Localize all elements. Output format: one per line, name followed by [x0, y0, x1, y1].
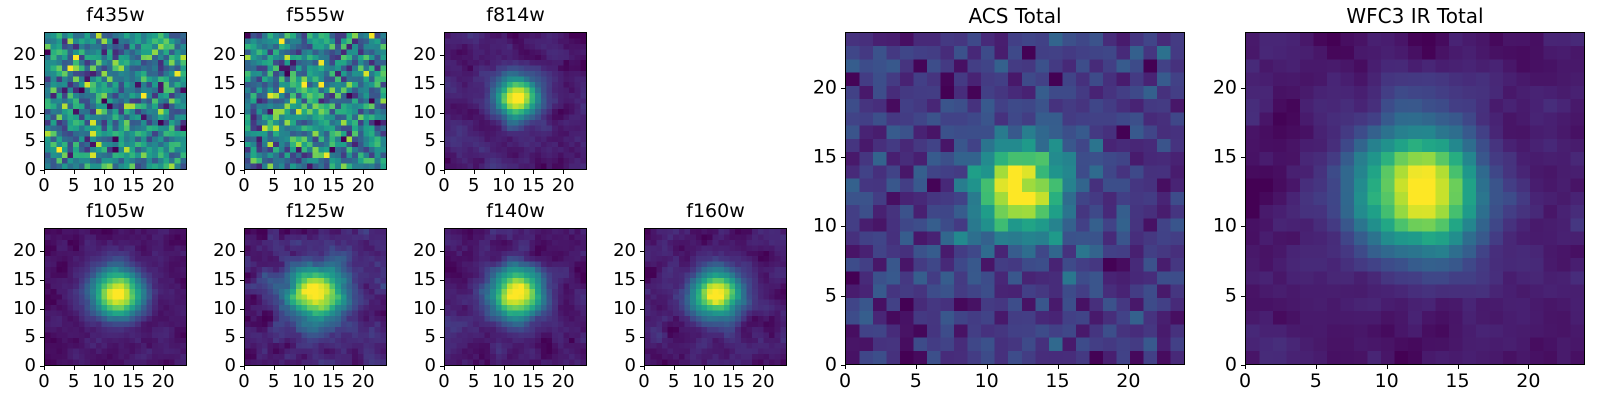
x-tick-label: 20 — [152, 373, 175, 391]
x-tick-mark — [1128, 365, 1129, 369]
y-tick-label: 15 — [198, 271, 236, 289]
x-tick-label: 10 — [92, 177, 115, 195]
y-tick-label: 20 — [398, 46, 436, 64]
y-tick-mark — [240, 84, 244, 85]
x-tick-label: 10 — [1375, 372, 1399, 391]
x-tick-label: 5 — [68, 373, 79, 391]
x-tick-label: 5 — [268, 373, 279, 391]
plot-area-f125w — [244, 228, 387, 366]
y-tick-label: 15 — [398, 271, 436, 289]
x-tick-label: 5 — [910, 372, 922, 391]
x-tick-label: 15 — [322, 177, 345, 195]
y-tick-mark — [640, 280, 644, 281]
y-tick-label: 20 — [198, 46, 236, 64]
x-tick-mark — [304, 366, 305, 370]
x-tick-label: 20 — [352, 373, 375, 391]
x-tick-mark — [1387, 365, 1388, 369]
y-tick-label: 20 — [598, 242, 636, 260]
x-tick-label: 0 — [438, 177, 449, 195]
x-tick-mark — [733, 366, 734, 370]
y-tick-label: 15 — [0, 271, 36, 289]
x-tick-mark — [74, 170, 75, 174]
plot-area-f555w — [244, 32, 387, 170]
x-tick-mark — [533, 366, 534, 370]
x-tick-label: 5 — [268, 177, 279, 195]
x-tick-mark — [563, 170, 564, 174]
y-tick-label: 10 — [1199, 217, 1237, 236]
y-tick-mark — [40, 55, 44, 56]
panel-title-f125w: f125w — [244, 202, 387, 221]
y-tick-label: 0 — [198, 161, 236, 179]
y-tick-mark — [640, 251, 644, 252]
heatmap-f160w — [645, 229, 786, 365]
y-tick-mark — [440, 251, 444, 252]
x-tick-label: 5 — [68, 177, 79, 195]
y-tick-mark — [440, 170, 444, 171]
x-tick-label: 0 — [1239, 372, 1251, 391]
y-tick-mark — [841, 365, 845, 366]
panel-title-f435w: f435w — [44, 6, 187, 25]
y-tick-label: 15 — [1199, 147, 1237, 166]
panel-title-acs_total: ACS Total — [845, 6, 1185, 26]
x-tick-mark — [1528, 365, 1529, 369]
y-tick-mark — [240, 55, 244, 56]
y-tick-mark — [40, 170, 44, 171]
y-tick-label: 5 — [398, 328, 436, 346]
x-tick-label: 10 — [292, 373, 315, 391]
y-tick-label: 20 — [0, 242, 36, 260]
x-tick-mark — [274, 366, 275, 370]
y-tick-mark — [640, 337, 644, 338]
y-tick-mark — [240, 113, 244, 114]
y-tick-mark — [440, 141, 444, 142]
y-tick-mark — [40, 141, 44, 142]
panel-title-f105w: f105w — [44, 202, 187, 221]
x-tick-label: 0 — [238, 177, 249, 195]
panel-f814w: f814w0510152005101520 — [398, 2, 595, 204]
y-tick-mark — [1241, 365, 1245, 366]
y-tick-label: 15 — [398, 75, 436, 93]
x-tick-mark — [1245, 365, 1246, 369]
x-tick-label: 20 — [552, 373, 575, 391]
y-tick-mark — [40, 280, 44, 281]
y-tick-label: 5 — [0, 328, 36, 346]
x-tick-mark — [244, 366, 245, 370]
y-tick-mark — [440, 280, 444, 281]
y-tick-mark — [40, 113, 44, 114]
y-tick-label: 5 — [198, 132, 236, 150]
x-tick-label: 15 — [722, 373, 745, 391]
y-tick-mark — [240, 251, 244, 252]
panel-f140w: f140w0510152005101520 — [398, 198, 595, 400]
x-tick-mark — [363, 366, 364, 370]
x-tick-mark — [474, 170, 475, 174]
y-tick-label: 20 — [398, 242, 436, 260]
y-tick-label: 0 — [598, 357, 636, 375]
x-tick-label: 15 — [1045, 372, 1069, 391]
x-tick-mark — [244, 170, 245, 174]
x-tick-label: 5 — [668, 373, 679, 391]
y-tick-mark — [1241, 296, 1245, 297]
x-tick-label: 20 — [352, 177, 375, 195]
panel-title-f814w: f814w — [444, 6, 587, 25]
x-tick-mark — [44, 366, 45, 370]
x-tick-mark — [533, 170, 534, 174]
y-tick-label: 10 — [198, 104, 236, 122]
plot-area-f435w — [44, 32, 187, 170]
panel-f555w: f555w0510152005101520 — [198, 2, 395, 204]
x-tick-label: 0 — [38, 373, 49, 391]
x-tick-label: 20 — [152, 177, 175, 195]
y-tick-label: 5 — [598, 328, 636, 346]
y-tick-label: 20 — [198, 242, 236, 260]
y-tick-label: 15 — [0, 75, 36, 93]
x-tick-label: 0 — [438, 373, 449, 391]
plot-area-wfc3_ir_total — [1245, 32, 1585, 365]
x-tick-label: 0 — [839, 372, 851, 391]
panel-title-wfc3_ir_total: WFC3 IR Total — [1245, 6, 1585, 26]
x-tick-label: 10 — [692, 373, 715, 391]
x-tick-mark — [444, 170, 445, 174]
x-tick-mark — [133, 366, 134, 370]
x-tick-mark — [133, 170, 134, 174]
plot-area-f814w — [444, 32, 587, 170]
plot-area-f105w — [44, 228, 187, 366]
panel-f435w: f435w0510152005101520 — [0, 2, 195, 204]
x-tick-mark — [333, 170, 334, 174]
y-tick-mark — [640, 309, 644, 310]
heatmap-f555w — [245, 33, 386, 169]
x-tick-mark — [674, 366, 675, 370]
y-tick-mark — [841, 157, 845, 158]
x-tick-label: 20 — [1516, 372, 1540, 391]
y-tick-mark — [440, 309, 444, 310]
y-tick-label: 10 — [198, 300, 236, 318]
x-tick-mark — [845, 365, 846, 369]
x-tick-label: 10 — [975, 372, 999, 391]
x-tick-mark — [1458, 365, 1459, 369]
y-tick-label: 0 — [1199, 356, 1237, 375]
panel-title-f555w: f555w — [244, 6, 387, 25]
x-tick-label: 20 — [552, 177, 575, 195]
y-tick-label: 10 — [799, 217, 837, 236]
y-tick-mark — [841, 88, 845, 89]
y-tick-label: 15 — [198, 75, 236, 93]
y-tick-mark — [440, 366, 444, 367]
heatmap-f125w — [245, 229, 386, 365]
y-tick-label: 10 — [398, 300, 436, 318]
panel-wfc3_ir_total: WFC3 IR Total0510152005101520 — [1199, 2, 1593, 399]
x-tick-mark — [1316, 365, 1317, 369]
y-tick-label: 5 — [0, 132, 36, 150]
y-tick-label: 10 — [398, 104, 436, 122]
y-tick-label: 10 — [598, 300, 636, 318]
x-tick-label: 0 — [638, 373, 649, 391]
x-tick-mark — [504, 366, 505, 370]
x-tick-label: 15 — [322, 373, 345, 391]
x-tick-mark — [163, 170, 164, 174]
y-tick-label: 5 — [1199, 286, 1237, 305]
panel-title-f160w: f160w — [644, 202, 787, 221]
x-tick-mark — [44, 170, 45, 174]
x-tick-label: 10 — [492, 177, 515, 195]
y-tick-mark — [40, 366, 44, 367]
y-tick-label: 5 — [799, 286, 837, 305]
x-tick-mark — [644, 366, 645, 370]
y-tick-label: 15 — [598, 271, 636, 289]
x-tick-label: 5 — [1310, 372, 1322, 391]
x-tick-mark — [163, 366, 164, 370]
x-tick-mark — [704, 366, 705, 370]
y-tick-label: 20 — [799, 78, 837, 97]
x-tick-mark — [763, 366, 764, 370]
x-tick-label: 0 — [238, 373, 249, 391]
x-tick-label: 10 — [292, 177, 315, 195]
y-tick-label: 0 — [0, 357, 36, 375]
y-tick-mark — [440, 113, 444, 114]
y-tick-mark — [1241, 157, 1245, 158]
heatmap-f105w — [45, 229, 186, 365]
panel-f125w: f125w0510152005101520 — [198, 198, 395, 400]
x-tick-mark — [304, 170, 305, 174]
y-tick-mark — [440, 55, 444, 56]
x-tick-mark — [474, 366, 475, 370]
x-tick-label: 15 — [522, 177, 545, 195]
heatmap-f814w — [445, 33, 586, 169]
y-tick-label: 20 — [1199, 78, 1237, 97]
y-tick-label: 0 — [198, 357, 236, 375]
x-tick-mark — [1058, 365, 1059, 369]
y-tick-mark — [240, 309, 244, 310]
panel-f160w: f160w0510152005101520 — [598, 198, 795, 400]
x-tick-label: 20 — [1116, 372, 1140, 391]
y-tick-label: 0 — [0, 161, 36, 179]
y-tick-mark — [841, 226, 845, 227]
y-tick-mark — [841, 296, 845, 297]
x-tick-mark — [563, 366, 564, 370]
y-tick-mark — [440, 337, 444, 338]
y-tick-label: 0 — [398, 357, 436, 375]
y-tick-mark — [240, 170, 244, 171]
x-tick-mark — [444, 366, 445, 370]
y-tick-mark — [40, 337, 44, 338]
y-tick-mark — [1241, 88, 1245, 89]
plot-area-f140w — [444, 228, 587, 366]
y-tick-label: 10 — [0, 300, 36, 318]
x-tick-mark — [104, 366, 105, 370]
y-tick-mark — [440, 84, 444, 85]
y-tick-label: 0 — [398, 161, 436, 179]
heatmap-f140w — [445, 229, 586, 365]
y-tick-mark — [40, 309, 44, 310]
y-tick-label: 10 — [0, 104, 36, 122]
panel-f105w: f105w0510152005101520 — [0, 198, 195, 400]
x-tick-mark — [916, 365, 917, 369]
x-tick-mark — [333, 366, 334, 370]
x-tick-mark — [74, 366, 75, 370]
x-tick-mark — [987, 365, 988, 369]
heatmap-acs_total — [846, 33, 1184, 364]
y-tick-mark — [1241, 226, 1245, 227]
x-tick-mark — [104, 170, 105, 174]
y-tick-mark — [640, 366, 644, 367]
y-tick-mark — [240, 337, 244, 338]
panel-acs_total: ACS Total0510152005101520 — [799, 2, 1193, 399]
y-tick-label: 5 — [398, 132, 436, 150]
x-tick-label: 10 — [92, 373, 115, 391]
x-tick-label: 15 — [122, 373, 145, 391]
x-tick-mark — [363, 170, 364, 174]
y-tick-mark — [240, 366, 244, 367]
x-tick-label: 15 — [122, 177, 145, 195]
plot-area-f160w — [644, 228, 787, 366]
plot-area-acs_total — [845, 32, 1185, 365]
y-tick-mark — [40, 251, 44, 252]
x-tick-label: 5 — [468, 177, 479, 195]
y-tick-label: 20 — [0, 46, 36, 64]
x-tick-label: 20 — [752, 373, 775, 391]
heatmap-f435w — [45, 33, 186, 169]
y-tick-mark — [240, 141, 244, 142]
x-tick-mark — [274, 170, 275, 174]
y-tick-label: 0 — [799, 356, 837, 375]
panel-title-f140w: f140w — [444, 202, 587, 221]
y-tick-mark — [40, 84, 44, 85]
x-tick-mark — [504, 170, 505, 174]
x-tick-label: 0 — [38, 177, 49, 195]
y-tick-mark — [240, 280, 244, 281]
x-tick-label: 10 — [492, 373, 515, 391]
y-tick-label: 5 — [198, 328, 236, 346]
figure-canvas: f435w0510152005101520f555w05101520051015… — [0, 0, 1600, 400]
x-tick-label: 15 — [522, 373, 545, 391]
x-tick-label: 5 — [468, 373, 479, 391]
x-tick-label: 15 — [1445, 372, 1469, 391]
y-tick-label: 15 — [799, 147, 837, 166]
heatmap-wfc3_ir_total — [1246, 33, 1584, 364]
